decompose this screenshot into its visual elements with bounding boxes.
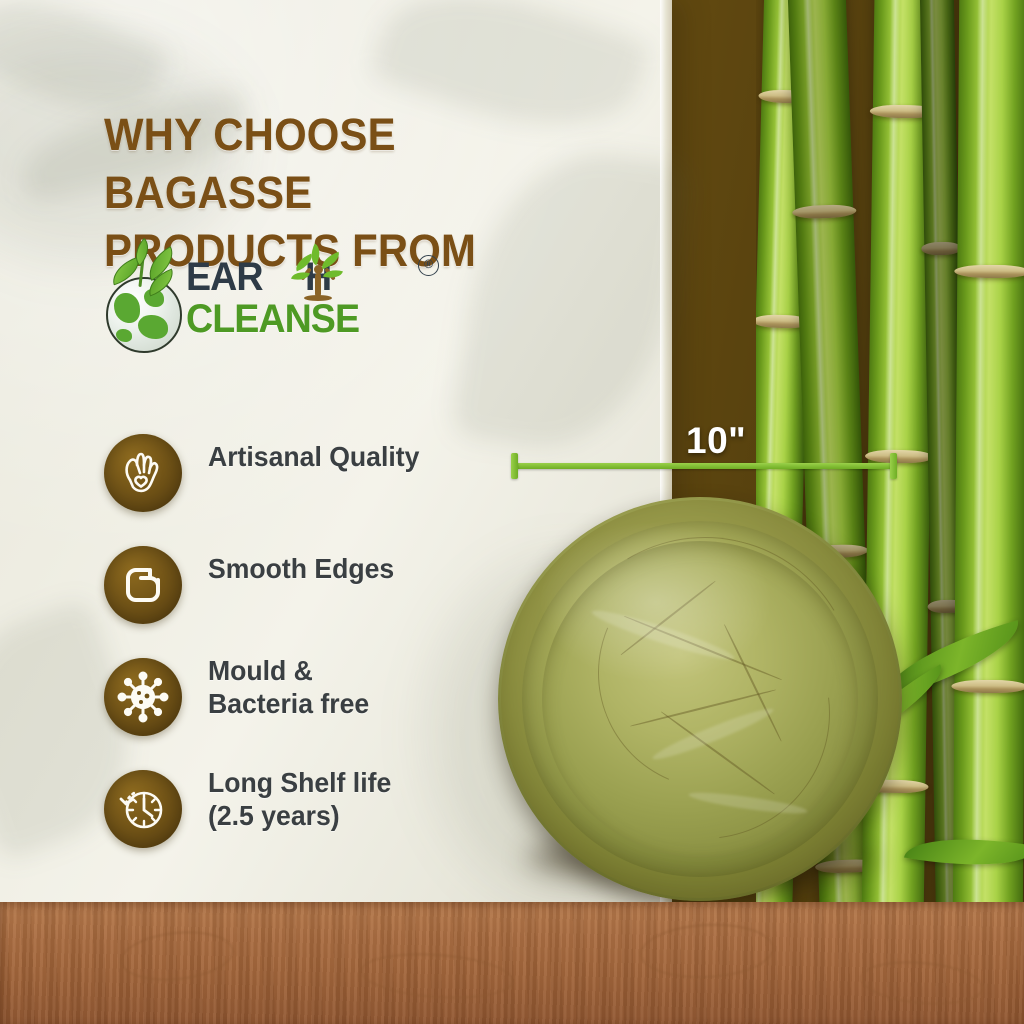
brand-name-line2: CLEANSE xyxy=(186,297,359,342)
brand-wordmark: EAR H CLEANSE ® xyxy=(186,251,362,347)
tree-person-icon xyxy=(296,253,340,301)
dimension-label: 10" xyxy=(686,420,746,462)
clock-arrow-icon xyxy=(104,770,182,848)
feature-label-line-1: Smooth Edges xyxy=(208,553,394,584)
dimension-line-icon xyxy=(512,463,896,469)
bagasse-leaf-plate xyxy=(498,497,902,901)
feature-label-line-1: Artisanal Quality xyxy=(208,441,419,472)
brand-logo[interactable]: EAR H CLEANSE ® xyxy=(104,243,362,353)
globe-with-sprout-icon xyxy=(106,277,182,353)
hand-heart-icon xyxy=(104,434,182,512)
registered-trademark-icon: ® xyxy=(418,255,439,276)
feature-label-line-1: Long Shelf life xyxy=(208,767,391,798)
germ-bacteria-icon xyxy=(104,658,182,736)
bamboo-stalk xyxy=(953,0,1024,904)
product-image-bagasse-plate xyxy=(498,497,906,905)
dimension-cap-left-icon xyxy=(511,453,518,479)
product-marketing-poster: WHY CHOOSE BAGASSE PRODUCTS FROM EAR H xyxy=(0,0,1024,1024)
heading-line-1: WHY CHOOSE BAGASSE xyxy=(104,109,396,218)
wooden-floor xyxy=(0,902,1024,1024)
dimension-cap-right-icon xyxy=(890,453,897,479)
rounded-edges-icon xyxy=(104,546,182,624)
feature-label: Artisanal Quality xyxy=(208,440,550,473)
brand-name-part1: EAR xyxy=(186,255,263,300)
feature-label-line-1: Mould & xyxy=(208,655,313,686)
